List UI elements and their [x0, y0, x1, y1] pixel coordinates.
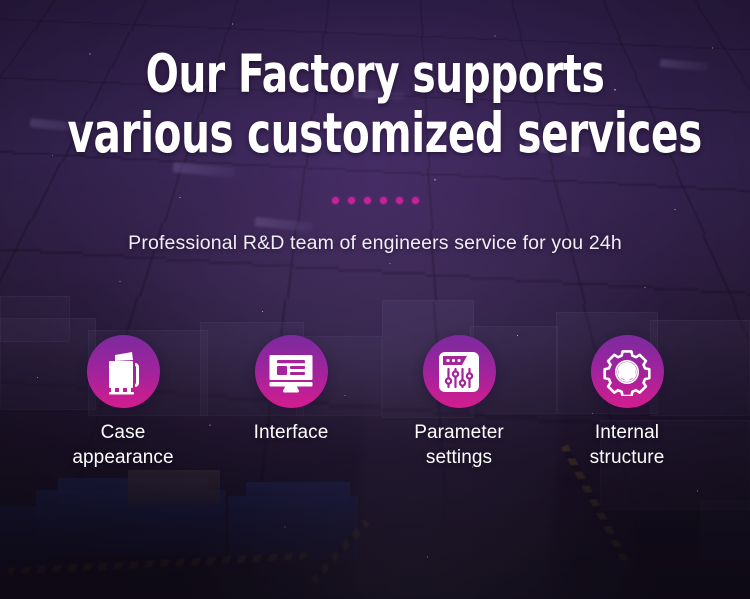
- feature-label: Interface: [254, 420, 329, 445]
- machine-cabinet-icon: [102, 349, 144, 395]
- banner-content: Our Factory supports various customized …: [0, 0, 750, 599]
- feature-label-line-2: structure: [590, 447, 665, 468]
- feature-case-appearance[interactable]: Case appearance: [45, 335, 201, 470]
- banner-title-line-2: various customized services: [68, 104, 683, 162]
- feature-label: Internal structure: [590, 420, 665, 470]
- feature-internal-structure[interactable]: Internal structure: [549, 335, 705, 470]
- feature-label-line-1: Interface: [254, 422, 329, 443]
- feature-interface[interactable]: Interface: [213, 335, 369, 470]
- decorative-dot-row: [0, 197, 750, 204]
- dot-4: [380, 197, 387, 204]
- feature-label-line-1: Parameter: [414, 422, 504, 443]
- feature-icon-circle: [255, 335, 328, 408]
- feature-icon-circle: [423, 335, 496, 408]
- factory-promo-banner: Our Factory supports various customized …: [0, 0, 750, 599]
- dot-6: [412, 197, 419, 204]
- dot-2: [348, 197, 355, 204]
- feature-label-line-2: settings: [426, 447, 492, 468]
- feature-parameter-settings[interactable]: Parameter settings: [381, 335, 537, 470]
- feature-label: Case appearance: [72, 420, 173, 470]
- feature-label-line-2: appearance: [72, 447, 173, 468]
- dot-1: [332, 197, 339, 204]
- dot-5: [396, 197, 403, 204]
- feature-icon-circle: [87, 335, 160, 408]
- slider-panel-icon: [437, 350, 481, 394]
- feature-list: Case appearance: [45, 335, 705, 470]
- gear-icon: [603, 348, 651, 396]
- banner-subtitle: Professional R&D team of engineers servi…: [0, 232, 750, 255]
- dot-3: [364, 197, 371, 204]
- monitor-display-icon: [268, 351, 314, 393]
- feature-label-line-1: Internal: [595, 422, 659, 443]
- feature-label: Parameter settings: [414, 420, 504, 470]
- banner-title-line-1: Our Factory supports: [68, 46, 683, 104]
- banner-title: Our Factory supports various customized …: [68, 46, 683, 162]
- feature-label-line-1: Case: [101, 422, 146, 443]
- feature-icon-circle: [591, 335, 664, 408]
